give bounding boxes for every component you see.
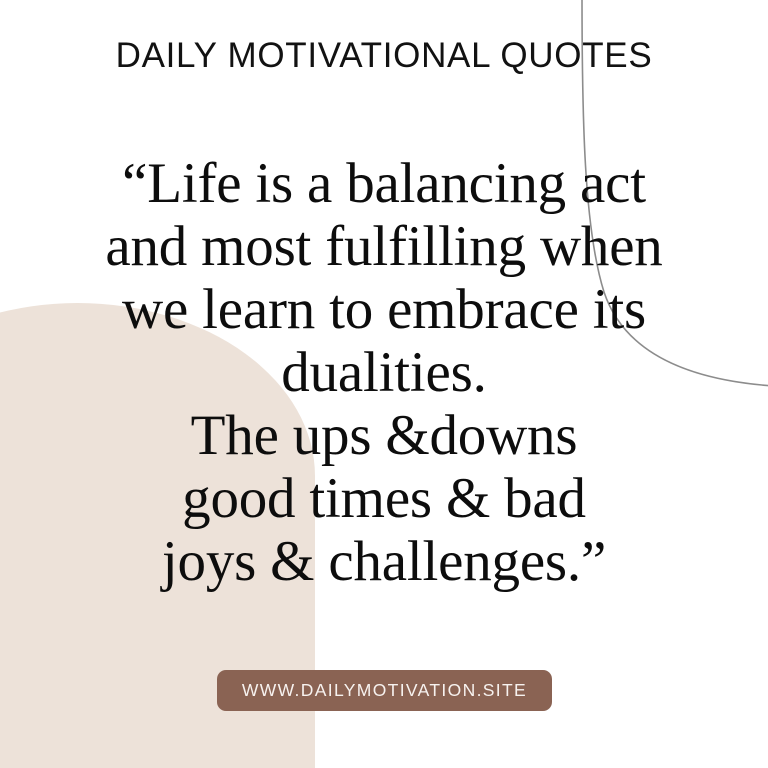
quote-line: and most fulfilling when <box>34 215 734 278</box>
quote-text-block: “Life is a balancing act and most fulfil… <box>34 152 734 593</box>
quote-line: we learn to embrace its <box>34 278 734 341</box>
quote-line: good times & bad <box>34 467 734 530</box>
quote-line: The ups &downs <box>34 404 734 467</box>
website-badge-label: WWW.DAILYMOTIVATION.SITE <box>242 682 527 700</box>
website-badge[interactable]: WWW.DAILYMOTIVATION.SITE <box>217 670 552 711</box>
quote-line: “Life is a balancing act <box>34 152 734 215</box>
quote-line: joys & challenges.” <box>34 530 734 593</box>
quote-poster: DAILY MOTIVATIONAL QUOTES “Life is a bal… <box>0 0 768 768</box>
quote-line: dualities. <box>34 341 734 404</box>
page-title: DAILY MOTIVATIONAL QUOTES <box>0 36 768 75</box>
